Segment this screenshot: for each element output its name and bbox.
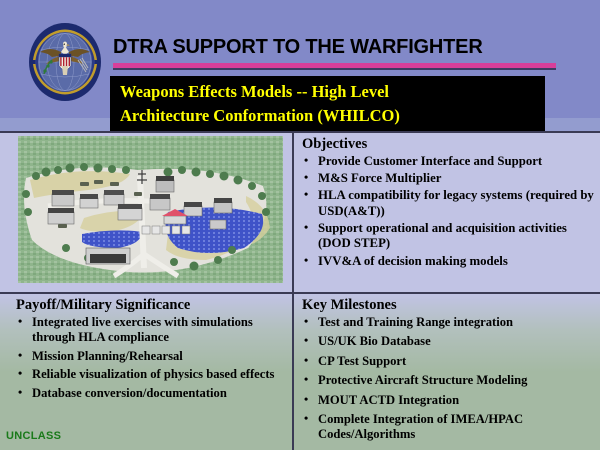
subtitle-text: Weapons Effects Models -- High Level Arc…	[120, 80, 540, 128]
list-item: •Mission Planning/Rehearsal	[14, 349, 290, 364]
milestones-panel: Key Milestones •Test and Training Range …	[302, 297, 594, 447]
list-item-label: Provide Customer Interface and Support	[318, 154, 542, 168]
bullet-icon: •	[18, 385, 22, 400]
bullet-icon: •	[18, 366, 22, 381]
list-item-label: CP Test Support	[318, 354, 406, 368]
bullet-icon: •	[304, 170, 308, 186]
list-item: •Provide Customer Interface and Support	[302, 154, 594, 170]
bullet-icon: •	[18, 348, 22, 363]
list-item: •Reliable visualization of physics based…	[14, 367, 290, 382]
bullet-icon: •	[304, 372, 308, 387]
list-item-label: MOUT ACTD Integration	[318, 393, 459, 407]
list-item: •Support operational and acquisition act…	[302, 221, 594, 252]
bullet-icon: •	[304, 411, 308, 426]
milestones-list: •Test and Training Range integration •US…	[302, 315, 594, 443]
subtitle-line-2: Architecture Conformation (WHILCO)	[120, 104, 540, 128]
presentation-slide: DTRA SUPPORT TO THE WARFIGHTER Weapons E…	[0, 0, 600, 450]
list-item: •Integrated live exercises with simulati…	[14, 315, 290, 346]
objectives-list: •Provide Customer Interface and Support …	[302, 154, 594, 269]
page-title: DTRA SUPPORT TO THE WARFIGHTER	[113, 36, 563, 59]
list-item-label: Mission Planning/Rehearsal	[32, 349, 183, 363]
payoff-list: •Integrated live exercises with simulati…	[14, 315, 290, 401]
divider-vertical	[292, 132, 294, 450]
bullet-icon: •	[304, 392, 308, 407]
bullet-icon: •	[304, 220, 308, 236]
payoff-panel: Payoff/Military Significance •Integrated…	[14, 297, 290, 404]
list-item-label: Test and Training Range integration	[318, 315, 513, 329]
objectives-heading: Objectives	[302, 136, 594, 153]
list-item: •Protective Aircraft Structure Modeling	[302, 373, 594, 388]
classification-marking: UNCLASS	[6, 430, 61, 442]
divider-top	[0, 131, 600, 133]
list-item-label: M&S Force Multiplier	[318, 171, 441, 185]
milestones-heading: Key Milestones	[302, 297, 594, 314]
list-item-label: Complete Integration of IMEA/HPAC Codes/…	[318, 412, 523, 441]
list-item-label: US/UK Bio Database	[318, 334, 431, 348]
dtra-agency-seal-icon	[28, 22, 102, 102]
bullet-icon: •	[304, 187, 308, 203]
list-item: •Test and Training Range integration	[302, 315, 594, 330]
list-item-label: IVV&A of decision making models	[318, 254, 508, 268]
terrain-visualization-image	[18, 136, 283, 283]
bullet-icon: •	[304, 333, 308, 348]
bullet-icon: •	[304, 253, 308, 269]
bullet-icon: •	[304, 314, 308, 329]
list-item-label: Protective Aircraft Structure Modeling	[318, 373, 527, 387]
bullet-icon: •	[304, 153, 308, 169]
list-item-label: HLA compatibility for legacy systems (re…	[318, 188, 594, 218]
list-item: •HLA compatibility for legacy systems (r…	[302, 188, 594, 219]
list-item: •IVV&A of decision making models	[302, 254, 594, 270]
title-accent-rule-shadow	[113, 68, 556, 70]
subtitle-line-1: Weapons Effects Models -- High Level	[120, 80, 540, 104]
bullet-icon: •	[304, 353, 308, 368]
list-item-label: Reliable visualization of physics based …	[32, 367, 274, 381]
list-item: •Database conversion/documentation	[14, 386, 290, 401]
list-item: •M&S Force Multiplier	[302, 171, 594, 187]
payoff-heading: Payoff/Military Significance	[16, 297, 290, 314]
divider-horizontal	[0, 292, 600, 294]
list-item-label: Database conversion/documentation	[32, 386, 227, 400]
list-item: •US/UK Bio Database	[302, 334, 594, 349]
list-item: •Complete Integration of IMEA/HPAC Codes…	[302, 412, 594, 443]
objectives-panel: Objectives •Provide Customer Interface a…	[302, 136, 594, 271]
list-item-label: Integrated live exercises with simulatio…	[32, 315, 253, 344]
subtitle-banner: Weapons Effects Models -- High Level Arc…	[110, 76, 545, 132]
list-item: •MOUT ACTD Integration	[302, 393, 594, 408]
bullet-icon: •	[18, 314, 22, 329]
list-item: •CP Test Support	[302, 354, 594, 369]
list-item-label: Support operational and acquisition acti…	[318, 221, 567, 251]
